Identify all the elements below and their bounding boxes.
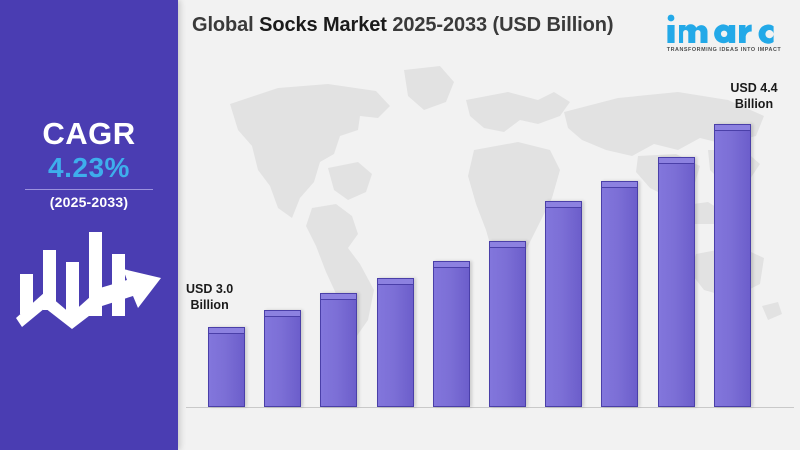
bar-2029[interactable] — [489, 241, 526, 407]
bar-group-2031: 2031 — [601, 181, 638, 407]
growth-bar-arrow-icon — [14, 228, 166, 340]
bar-cap-2027 — [377, 278, 414, 285]
bar-2025[interactable] — [264, 310, 301, 407]
bar-cap-2033 — [714, 124, 751, 131]
bar-group-2030: 2030 — [545, 201, 582, 407]
callout-2033-line1: USD 4.4 — [716, 80, 792, 96]
callout-2033-line2: Billion — [716, 96, 792, 112]
bar-group-2029: 2029 — [489, 241, 526, 407]
bar-cap-2024 — [208, 327, 245, 334]
callout-2024-line2: Billion — [186, 297, 233, 313]
callout-2024-line1: USD 3.0 — [186, 281, 233, 297]
cagr-label: CAGR — [0, 118, 178, 151]
infographic-canvas: CAGR 4.23% (2025-2033) Global Socks Mark… — [0, 0, 800, 450]
bar-group-2024: 2024 — [208, 327, 245, 407]
bar-group-2028: 2028 — [433, 261, 470, 407]
bar-group-2025: 2025 — [264, 310, 301, 407]
bar-2033[interactable] — [714, 124, 751, 407]
bar-2027[interactable] — [377, 278, 414, 407]
bar-2028[interactable] — [433, 261, 470, 407]
value-callout-2024: USD 3.0 Billion — [186, 281, 233, 313]
bar-cap-2031 — [601, 181, 638, 188]
bar-group-2032: 2032 — [658, 157, 695, 407]
bar-cap-2029 — [489, 241, 526, 248]
bar-cap-2026 — [320, 293, 357, 300]
bar-2031[interactable] — [601, 181, 638, 407]
value-callout-2033: USD 4.4 Billion — [716, 80, 792, 112]
bar-2032[interactable] — [658, 157, 695, 407]
bar-2026[interactable] — [320, 293, 357, 407]
chart-plot-area: USD 3.0 Billion USD 4.4 Billion 20242025… — [178, 0, 800, 450]
cagr-period: (2025-2033) — [0, 194, 178, 210]
bar-cap-2028 — [433, 261, 470, 268]
cagr-value: 4.23% — [0, 152, 178, 184]
bar-2024[interactable] — [208, 327, 245, 407]
bar-cap-2030 — [545, 201, 582, 208]
x-axis-baseline — [186, 407, 794, 408]
bar-group-2026: 2026 — [320, 293, 357, 407]
bar-cap-2025 — [264, 310, 301, 317]
bar-2030[interactable] — [545, 201, 582, 407]
bar-cap-2032 — [658, 157, 695, 164]
cagr-sidebar-panel: CAGR 4.23% (2025-2033) — [0, 0, 178, 450]
bar-group-2033: 2033 — [714, 124, 751, 407]
cagr-block: CAGR 4.23% (2025-2033) — [0, 118, 178, 210]
cagr-divider — [25, 189, 153, 190]
bar-group-2027: 2027 — [377, 278, 414, 407]
